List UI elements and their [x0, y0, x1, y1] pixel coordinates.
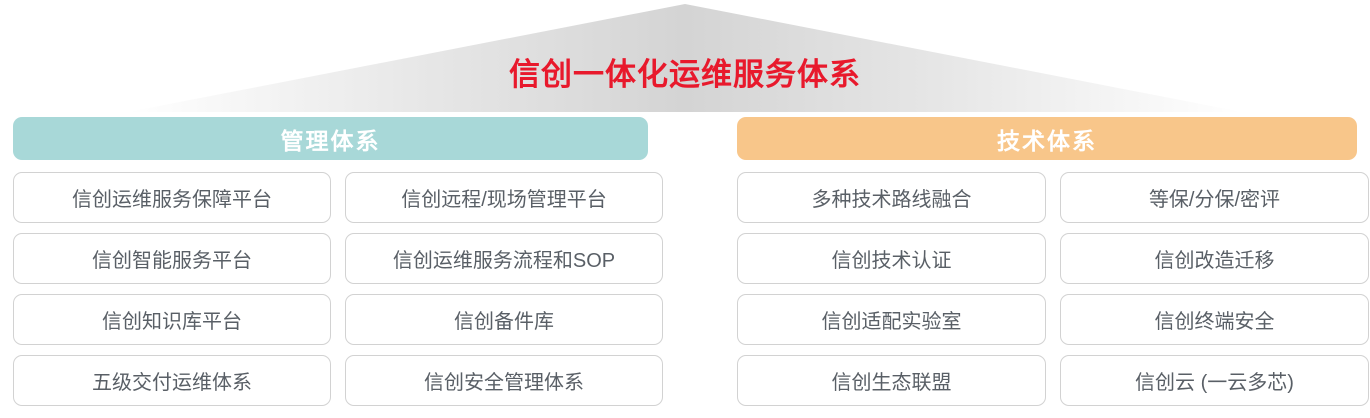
list-item[interactable]: 信创远程/现场管理平台	[345, 172, 663, 223]
list-item[interactable]: 多种技术路线融合	[737, 172, 1046, 223]
list-item[interactable]: 信创运维服务流程和SOP	[345, 233, 663, 284]
banner: 信创一体化运维服务体系	[0, 0, 1370, 112]
list-item[interactable]: 信创改造迁移	[1060, 233, 1369, 284]
panel-grid-management: 信创运维服务保障平台 信创远程/现场管理平台 信创智能服务平台 信创运维服务流程…	[13, 172, 663, 406]
list-item[interactable]: 信创安全管理体系	[345, 355, 663, 406]
list-item[interactable]: 信创终端安全	[1060, 294, 1369, 345]
systems-overview: 管理体系 信创运维服务保障平台 信创远程/现场管理平台 信创智能服务平台 信创运…	[0, 117, 1370, 406]
page-title: 信创一体化运维服务体系	[0, 55, 1370, 95]
list-item[interactable]: 信创技术认证	[737, 233, 1046, 284]
list-item[interactable]: 信创云 (一云多芯)	[1060, 355, 1369, 406]
list-item[interactable]: 信创生态联盟	[737, 355, 1046, 406]
list-item[interactable]: 信创智能服务平台	[13, 233, 331, 284]
list-item[interactable]: 信创备件库	[345, 294, 663, 345]
list-item[interactable]: 信创适配实验室	[737, 294, 1046, 345]
list-item[interactable]: 信创运维服务保障平台	[13, 172, 331, 223]
list-item[interactable]: 等保/分保/密评	[1060, 172, 1369, 223]
list-item[interactable]: 信创知识库平台	[13, 294, 331, 345]
panel-header-management: 管理体系	[13, 117, 648, 160]
panel-technology: 技术体系 多种技术路线融合 等保/分保/密评 信创技术认证 信创改造迁移 信创适…	[737, 117, 1369, 406]
panel-header-technology: 技术体系	[737, 117, 1357, 160]
panel-management: 管理体系 信创运维服务保障平台 信创远程/现场管理平台 信创智能服务平台 信创运…	[13, 117, 663, 406]
panel-grid-technology: 多种技术路线融合 等保/分保/密评 信创技术认证 信创改造迁移 信创适配实验室 …	[737, 172, 1369, 406]
list-item[interactable]: 五级交付运维体系	[13, 355, 331, 406]
